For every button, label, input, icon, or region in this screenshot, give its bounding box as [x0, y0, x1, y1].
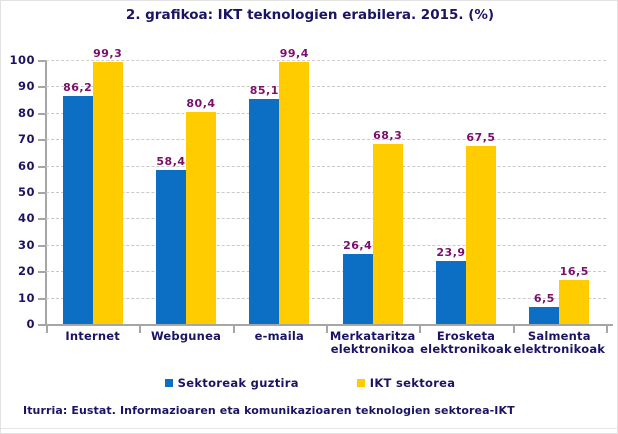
bar-value-label: 67,5: [457, 131, 505, 144]
bar-value-label: 80,4: [177, 97, 225, 110]
chart-container: 2. grafikoa: IKT teknologien erabilera. …: [0, 0, 618, 434]
bar-value-label: 99,3: [84, 47, 132, 60]
x-axis-tick: [46, 326, 48, 333]
chart-legend: Sektoreak guztira IKT sektorea: [1, 376, 618, 390]
y-axis-tick-label: 30: [1, 238, 35, 252]
x-axis-category-label-line: elektronikoa: [320, 343, 425, 356]
bar-1[interactable]: [373, 144, 403, 324]
bar-0[interactable]: [436, 261, 466, 324]
legend-item-sektoreak-guztira[interactable]: Sektoreak guztira: [165, 376, 299, 390]
x-axis-category-label: e-maila: [227, 330, 332, 343]
y-axis-tick-label: 100: [1, 53, 35, 67]
x-axis-category-label: Erosketaelektronikoak: [413, 330, 518, 356]
bar-group: 23,967,5: [419, 60, 512, 324]
x-axis-category-label: Salmentaelektronikoak: [507, 330, 612, 356]
bar-1[interactable]: [93, 62, 123, 324]
y-axis-tick-label: 10: [1, 291, 35, 305]
bar-1[interactable]: [279, 62, 309, 324]
x-axis-tick: [606, 326, 608, 333]
bar-0[interactable]: [249, 99, 279, 324]
bar-group: 86,299,3: [46, 60, 139, 324]
bar-0[interactable]: [156, 170, 186, 324]
y-axis-tick: [38, 166, 45, 168]
y-axis-tick-label: 90: [1, 79, 35, 93]
legend-label: IKT sektorea: [370, 376, 456, 390]
x-axis-category-label-line: Internet: [40, 330, 145, 343]
y-axis-tick-label: 50: [1, 185, 35, 199]
bar-0[interactable]: [529, 307, 559, 324]
bar-1[interactable]: [466, 146, 496, 324]
bar-0[interactable]: [343, 254, 373, 324]
y-axis-tick-label: 0: [1, 317, 35, 331]
bar-group: 26,468,3: [326, 60, 419, 324]
bar-0[interactable]: [63, 96, 93, 324]
y-axis-tick-label: 70: [1, 132, 35, 146]
legend-label: Sektoreak guztira: [178, 376, 299, 390]
y-axis-tick: [38, 192, 45, 194]
y-axis-tick: [38, 86, 45, 88]
y-axis-tick: [38, 298, 45, 300]
legend-swatch-icon-series-0: [165, 379, 173, 387]
bar-value-label: 16,5: [550, 265, 598, 278]
y-axis-tick: [38, 245, 45, 247]
y-axis-tick: [38, 271, 45, 273]
bar-1[interactable]: [559, 280, 589, 324]
bottom-rule: [1, 428, 618, 429]
y-axis-tick-labels: 0102030405060708090100: [1, 1, 35, 434]
footer-separator: [1, 397, 618, 398]
legend-swatch-icon-series-1: [357, 379, 365, 387]
x-axis-category-label-line: e-maila: [227, 330, 332, 343]
y-axis-tick: [38, 139, 45, 141]
x-axis-category-label-line: Webgunea: [133, 330, 238, 343]
y-axis-tick: [38, 218, 45, 220]
bar-group: 85,199,4: [233, 60, 326, 324]
bar-value-label: 68,3: [364, 129, 412, 142]
chart-title: 2. grafikoa: IKT teknologien erabilera. …: [1, 7, 618, 23]
y-axis-tick: [38, 113, 45, 115]
bar-group: 6,516,5: [513, 60, 606, 324]
y-axis-tick-label: 80: [1, 106, 35, 120]
y-axis-tick-label: 40: [1, 211, 35, 225]
x-axis-category-label: Internet: [40, 330, 145, 343]
x-axis-category-label: Webgunea: [133, 330, 238, 343]
y-axis-tick: [38, 324, 45, 326]
x-axis-category-label: Merkataritzaelektronikoa: [320, 330, 425, 356]
legend-item-ikt-sektorea[interactable]: IKT sektorea: [357, 376, 456, 390]
bar-value-label: 99,4: [270, 47, 318, 60]
x-axis-category-label-line: elektronikoak: [507, 343, 612, 356]
bar-group: 58,480,4: [139, 60, 232, 324]
plot-area: 86,299,358,480,485,199,426,468,323,967,5…: [46, 60, 606, 324]
x-axis-category-label-line: elektronikoak: [413, 343, 518, 356]
bar-1[interactable]: [186, 112, 216, 324]
y-axis-tick: [38, 60, 45, 62]
source-note: Iturria: Eustat. Informazioaren eta komu…: [23, 404, 515, 417]
y-axis-tick-label: 60: [1, 159, 35, 173]
y-axis-tick-label: 20: [1, 264, 35, 278]
